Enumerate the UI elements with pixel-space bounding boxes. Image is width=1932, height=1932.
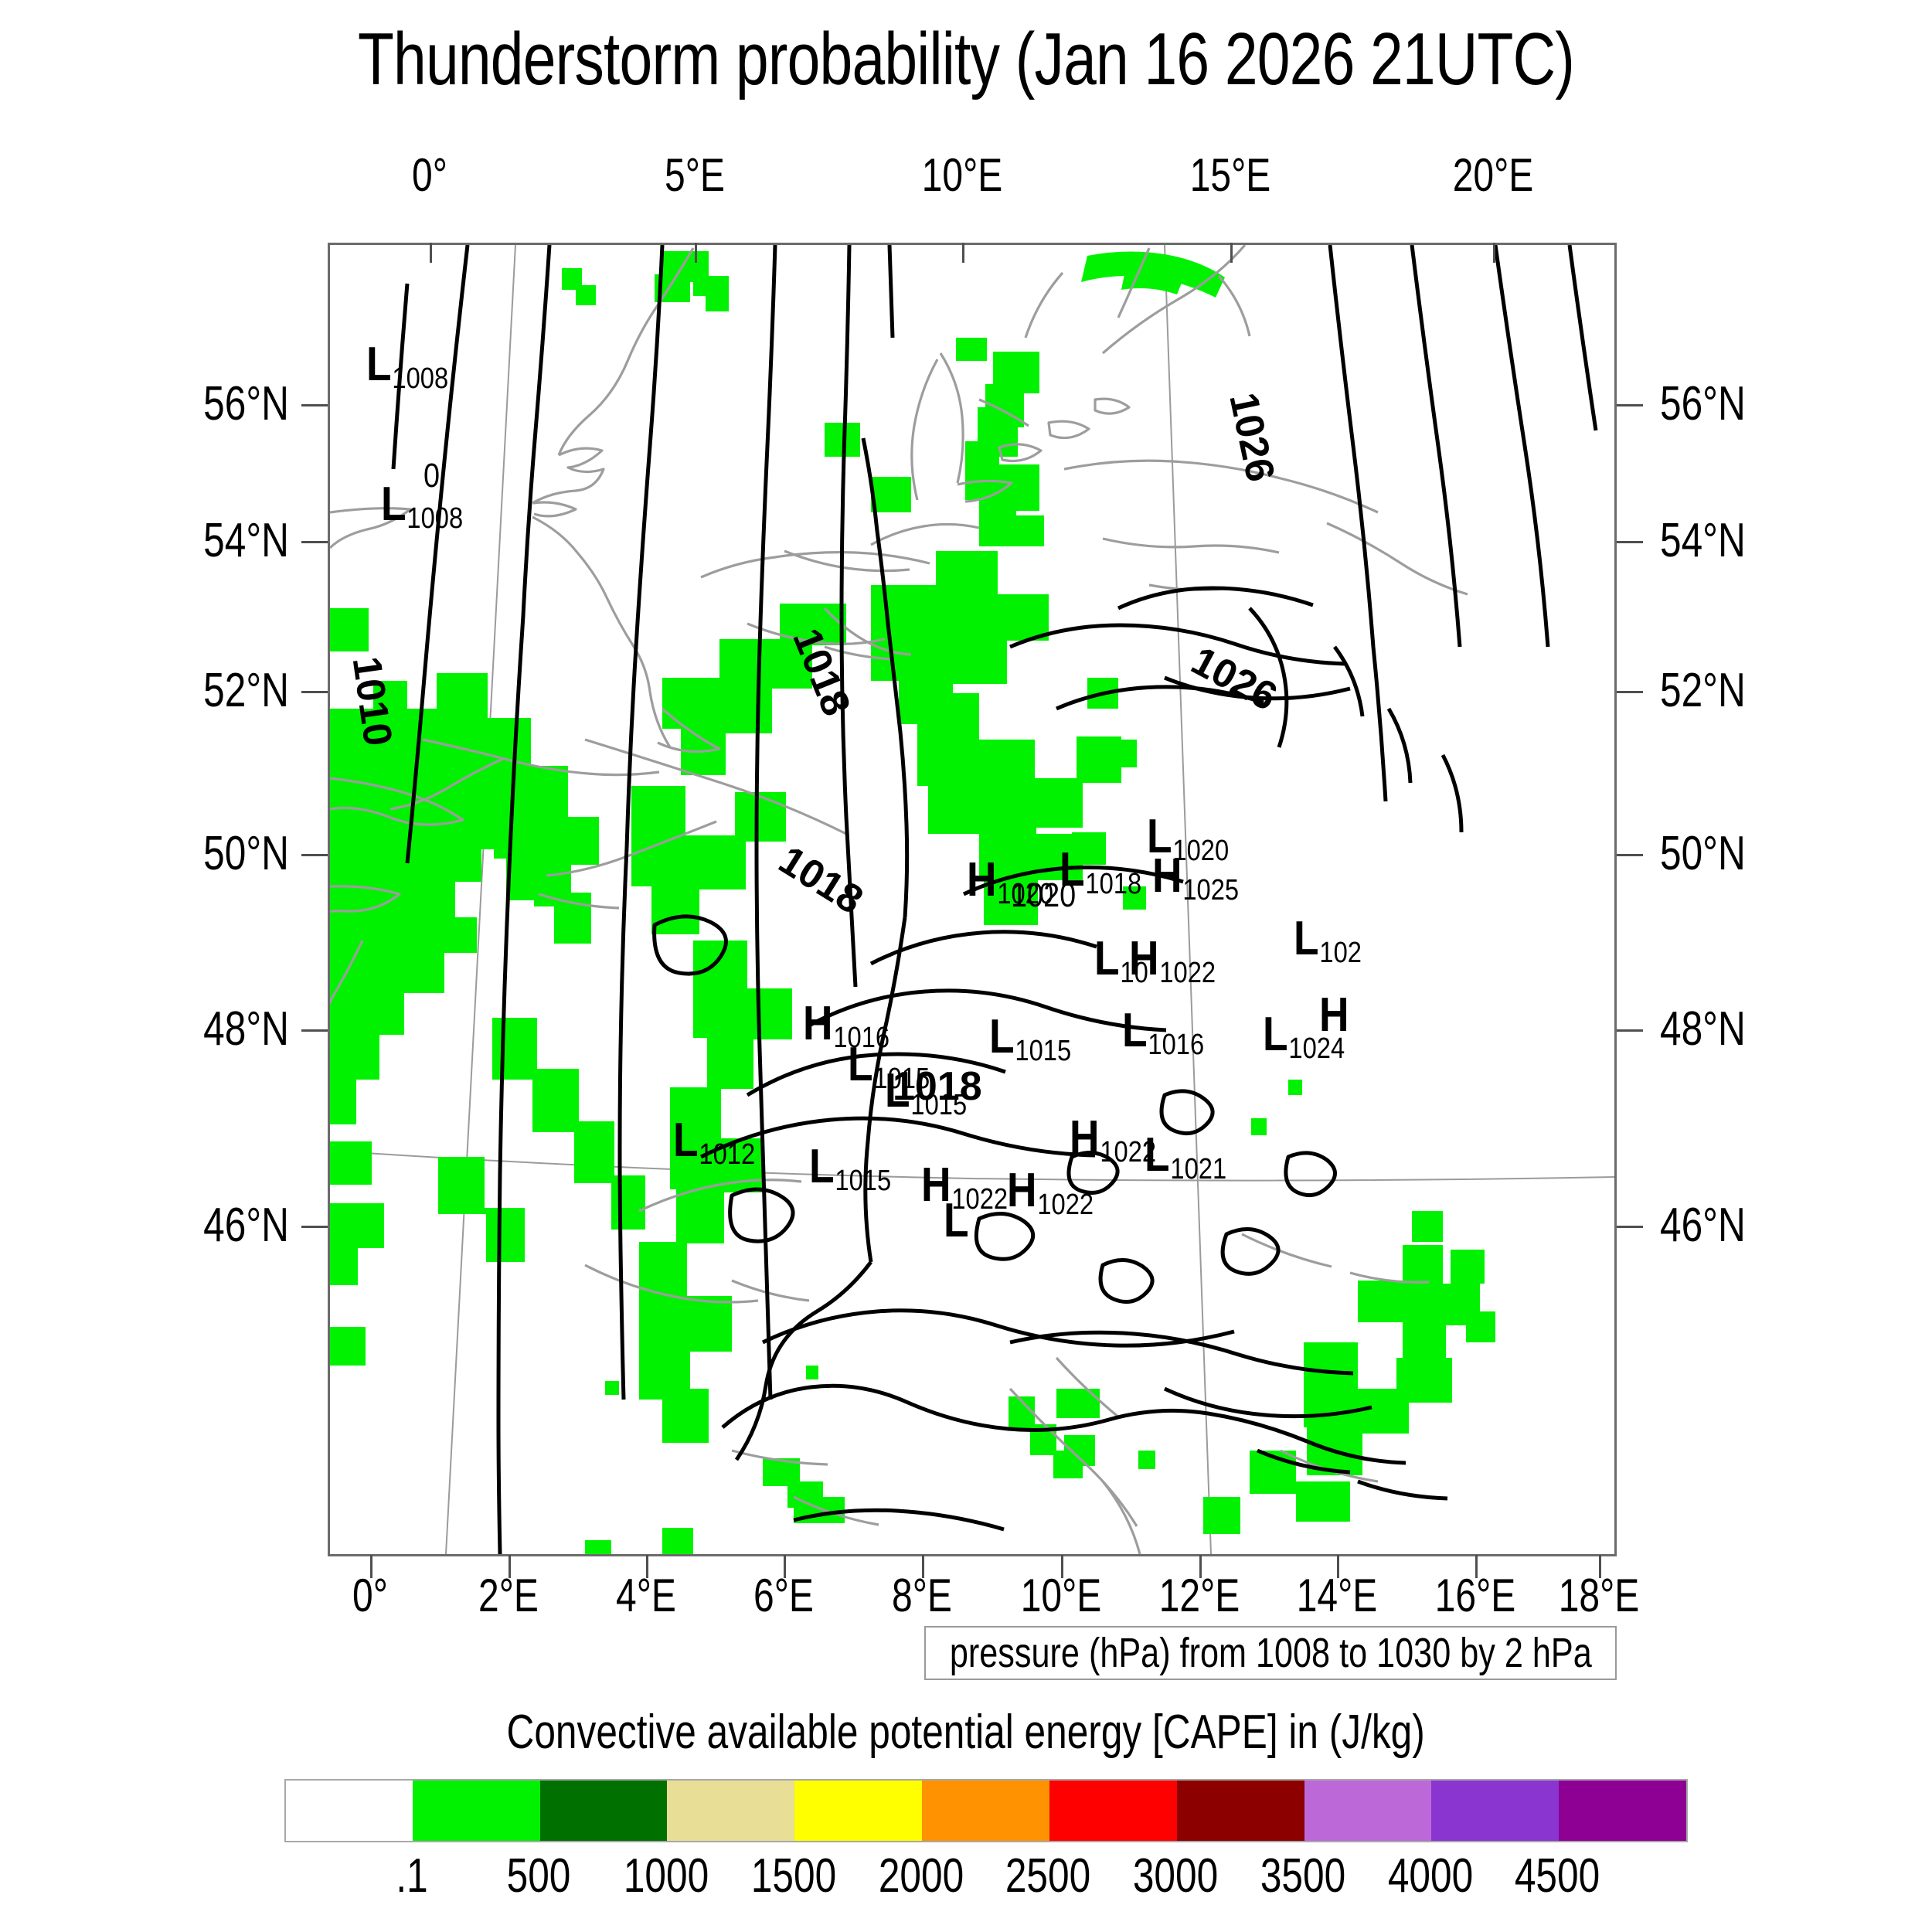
pressure-center-label-l-0: L1008 [366,341,447,389]
pressure-center-label-h-21: H1022 [1007,1167,1093,1215]
colorbar-label-7: 3500 [1235,1849,1371,1903]
colorbar-label-0: .1 [344,1849,480,1903]
axis-tick-bottom-5 [1061,1555,1063,1578]
isobar-inline-number-1: 0 [423,457,440,495]
axis-tick-right-4 [1617,1029,1643,1032]
cape-colorbar[interactable] [284,1779,1688,1842]
colorbar-swatch-5[interactable] [922,1781,1049,1841]
colorbar-swatch-1[interactable] [413,1781,540,1841]
axis-tick-top-2 [962,243,964,263]
pressure-center-label-h-5: H1025 [1152,852,1238,900]
axis-tick-left-4 [301,1029,328,1032]
coastline-layer [330,245,1468,1554]
axis-tick-left-1 [301,541,328,543]
axis-label-left-0: 56°N [116,376,289,431]
colorbar-swatch-7[interactable] [1177,1781,1304,1841]
axis-tick-bottom-9 [1599,1555,1601,1578]
colorbar-label-1: 500 [471,1849,607,1903]
colorbar-swatch-10[interactable] [1559,1781,1686,1841]
axis-label-right-1: 54°N [1660,513,1833,568]
axis-label-top-4: 20°E [1413,148,1573,202]
axis-tick-bottom-1 [509,1555,511,1578]
axis-tick-left-0 [301,404,328,406]
axis-tick-left-5 [301,1226,328,1228]
axis-tick-bottom-2 [646,1555,648,1578]
map-plot-area[interactable]: L1008L1008L1020H1020L1018H1025L102L10H10… [328,243,1617,1556]
pressure-center-label-l-6: L102 [1294,915,1361,963]
axis-label-left-4: 48°N [116,1002,289,1056]
axis-tick-left-3 [301,854,328,856]
axis-tick-bottom-7 [1337,1555,1339,1578]
pressure-center-label-l-16: L1012 [673,1117,754,1165]
cape-colorbar-labels: .150010001500200025003000350040004500 [284,1849,1685,1910]
axis-label-right-3: 50°N [1660,826,1833,881]
isobar-inline-number-0: 1020 [1011,876,1076,915]
axis-tick-right-3 [1617,854,1643,856]
axis-tick-bottom-0 [370,1555,372,1578]
cape-caption-text: Convective available potential energy [C… [507,1705,1425,1760]
axis-tick-top-0 [430,243,432,263]
pressure-center-label-l-10: L1015 [989,1013,1070,1061]
pressure-center-label-l-22: L [944,1197,969,1245]
axis-label-left-3: 50°N [116,826,289,881]
colorbar-swatch-6[interactable] [1049,1781,1177,1841]
pressure-center-label-l-18: L1021 [1145,1131,1226,1179]
page-title: Thunderstorm probability (Jan 16 2026 21… [193,17,1739,102]
axis-label-right-2: 52°N [1660,663,1833,718]
axis-tick-right-0 [1617,404,1643,406]
axis-label-top-2: 10°E [882,148,1043,202]
colorbar-label-5: 2500 [980,1849,1116,1903]
axis-label-top-3: 15°E [1150,148,1311,202]
axis-tick-bottom-6 [1199,1555,1202,1578]
colorbar-swatch-8[interactable] [1304,1781,1432,1841]
isobar-value-label-1018-5: 1018 [893,1063,982,1110]
axis-tick-bottom-4 [922,1555,924,1578]
pressure-center-label-h-13: H [1319,992,1349,1039]
colorbar-label-2: 1000 [598,1849,734,1903]
axis-tick-right-1 [1617,541,1643,543]
pressure-center-label-h-17: H1022 [1070,1114,1155,1162]
pressure-center-label-l-11: L1016 [1122,1007,1203,1055]
axis-label-left-5: 46°N [116,1198,289,1253]
axis-tick-top-4 [1493,243,1495,263]
colorbar-label-3: 1500 [726,1849,862,1903]
colorbar-swatch-3[interactable] [667,1781,794,1841]
axis-label-right-0: 56°N [1660,376,1833,431]
axis-label-left-2: 52°N [116,663,289,718]
colorbar-swatch-9[interactable] [1431,1781,1559,1841]
axis-label-left-1: 54°N [116,513,289,568]
colorbar-label-9: 4500 [1489,1849,1625,1903]
axis-label-top-0: 0° [349,148,510,202]
colorbar-label-4: 2000 [853,1849,989,1903]
colorbar-label-8: 4000 [1362,1849,1498,1903]
axis-label-top-1: 5°E [614,148,775,202]
axis-tick-left-2 [301,691,328,693]
cape-caption: Convective available potential energy [C… [0,1705,1932,1760]
pressure-center-label-h-8: H1022 [1129,935,1215,983]
pressure-legend-box: pressure (hPa) from 1008 to 1030 by 2 hP… [924,1626,1617,1680]
axis-tick-top-3 [1230,243,1233,263]
axis-tick-top-1 [695,243,697,263]
colorbar-label-6: 3000 [1107,1849,1243,1903]
pressure-center-label-l-19: L1015 [809,1143,890,1191]
axis-label-right-4: 48°N [1660,1002,1833,1056]
axis-tick-bottom-3 [784,1555,786,1578]
pressure-center-label-l-1: L1008 [381,481,462,529]
colorbar-swatch-2[interactable] [540,1781,668,1841]
axis-tick-right-2 [1617,691,1643,693]
axis-tick-bottom-8 [1475,1555,1478,1578]
axis-label-right-5: 46°N [1660,1198,1833,1253]
colorbar-swatch-4[interactable] [794,1781,922,1841]
colorbar-swatch-0[interactable] [286,1781,413,1841]
pressure-legend-text: pressure (hPa) from 1008 to 1030 by 2 hP… [950,1629,1592,1677]
axis-tick-right-5 [1617,1226,1643,1228]
